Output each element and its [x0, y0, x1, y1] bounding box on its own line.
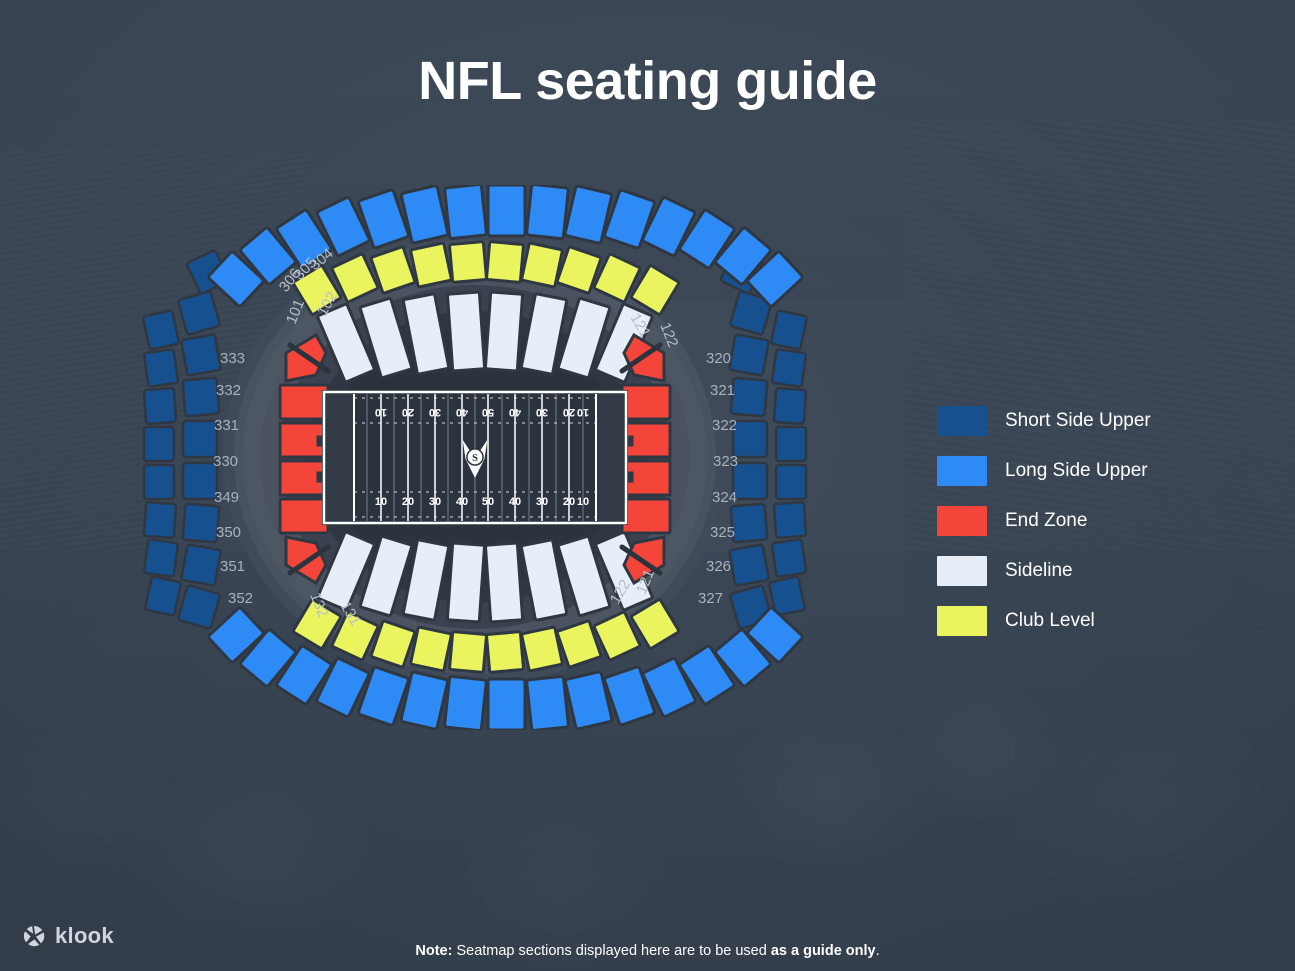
svg-text:326: 326: [706, 558, 731, 575]
svg-text:10: 10: [375, 496, 387, 508]
svg-text:20: 20: [563, 406, 575, 418]
svg-text:333: 333: [220, 350, 245, 367]
svg-text:30: 30: [536, 406, 548, 418]
football-field: 10 20 30 40 50 40 30 20 10 10 20 30 40 5…: [322, 390, 628, 525]
legend-label-short-side-upper: Short Side Upper: [1005, 410, 1151, 432]
short-side-upper-right[interactable]: [720, 250, 807, 629]
svg-text:30: 30: [429, 406, 441, 418]
svg-text:50: 50: [482, 496, 494, 508]
footer-note-prefix: Note:: [415, 943, 452, 959]
legend-label-sideline: Sideline: [1005, 560, 1073, 582]
color-swatch-end-zone: [937, 506, 987, 536]
svg-text:321: 321: [710, 382, 735, 399]
svg-text:20: 20: [402, 496, 414, 508]
svg-text:40: 40: [509, 496, 521, 508]
legend-label-club-level: Club Level: [1005, 610, 1095, 632]
svg-text:S: S: [472, 453, 478, 464]
svg-text:351: 351: [220, 558, 245, 575]
svg-text:352: 352: [228, 590, 253, 607]
seatmap-svg[interactable]: 320 321 322 323 324 325 326 327 333 332 …: [140, 185, 810, 730]
svg-text:30: 30: [536, 496, 548, 508]
legend-label-long-side-upper: Long Side Upper: [1005, 460, 1148, 482]
svg-text:40: 40: [456, 496, 468, 508]
svg-text:40: 40: [456, 406, 468, 418]
svg-text:332: 332: [216, 382, 241, 399]
legend-item-end-zone[interactable]: End Zone: [937, 496, 1237, 546]
svg-text:10: 10: [577, 496, 589, 508]
svg-text:350: 350: [216, 524, 241, 541]
svg-text:322: 322: [712, 417, 737, 434]
legend-item-club-level[interactable]: Club Level: [937, 596, 1237, 646]
klook-logo[interactable]: klook: [22, 923, 114, 949]
svg-text:349: 349: [214, 489, 239, 506]
page-title: NFL seating guide: [0, 50, 1295, 112]
color-swatch-long-side-upper: [937, 456, 987, 486]
svg-text:325: 325: [710, 524, 735, 541]
color-swatch-sideline: [937, 556, 987, 586]
footer-note-suffix: .: [876, 943, 880, 959]
short-side-upper-left[interactable]: [143, 250, 230, 629]
legend-item-long-side-upper[interactable]: Long Side Upper: [937, 446, 1237, 496]
nfl-seating-guide-page: NFL seating guide: [0, 0, 1295, 971]
svg-text:320: 320: [706, 350, 731, 367]
klook-wordmark: klook: [55, 923, 114, 949]
legend-label-end-zone: End Zone: [1005, 510, 1087, 532]
svg-text:331: 331: [214, 417, 239, 434]
svg-text:327: 327: [698, 590, 723, 607]
svg-text:330: 330: [213, 453, 238, 470]
svg-text:20: 20: [402, 406, 414, 418]
footer-note-emphasis: as a guide only: [771, 943, 876, 959]
svg-text:50: 50: [482, 406, 494, 418]
svg-text:20: 20: [563, 496, 575, 508]
svg-text:323: 323: [713, 453, 738, 470]
color-swatch-short-side-upper: [937, 406, 987, 436]
legend-item-short-side-upper[interactable]: Short Side Upper: [937, 396, 1237, 446]
footer-note-body: Seatmap sections displayed here are to b…: [452, 943, 770, 959]
legend-item-sideline[interactable]: Sideline: [937, 546, 1237, 596]
stadium-seatmap[interactable]: 320 321 322 323 324 325 326 327 333 332 …: [140, 185, 810, 730]
svg-text:30: 30: [429, 496, 441, 508]
legend: Short Side Upper Long Side Upper End Zon…: [937, 396, 1237, 646]
svg-text:10: 10: [577, 406, 589, 418]
svg-text:40: 40: [509, 406, 521, 418]
svg-text:10: 10: [375, 406, 387, 418]
color-swatch-club-level: [937, 606, 987, 636]
klook-pinwheel-logo-icon: [22, 924, 46, 948]
footer-note: Note: Seatmap sections displayed here ar…: [0, 943, 1295, 959]
svg-text:324: 324: [712, 489, 737, 506]
